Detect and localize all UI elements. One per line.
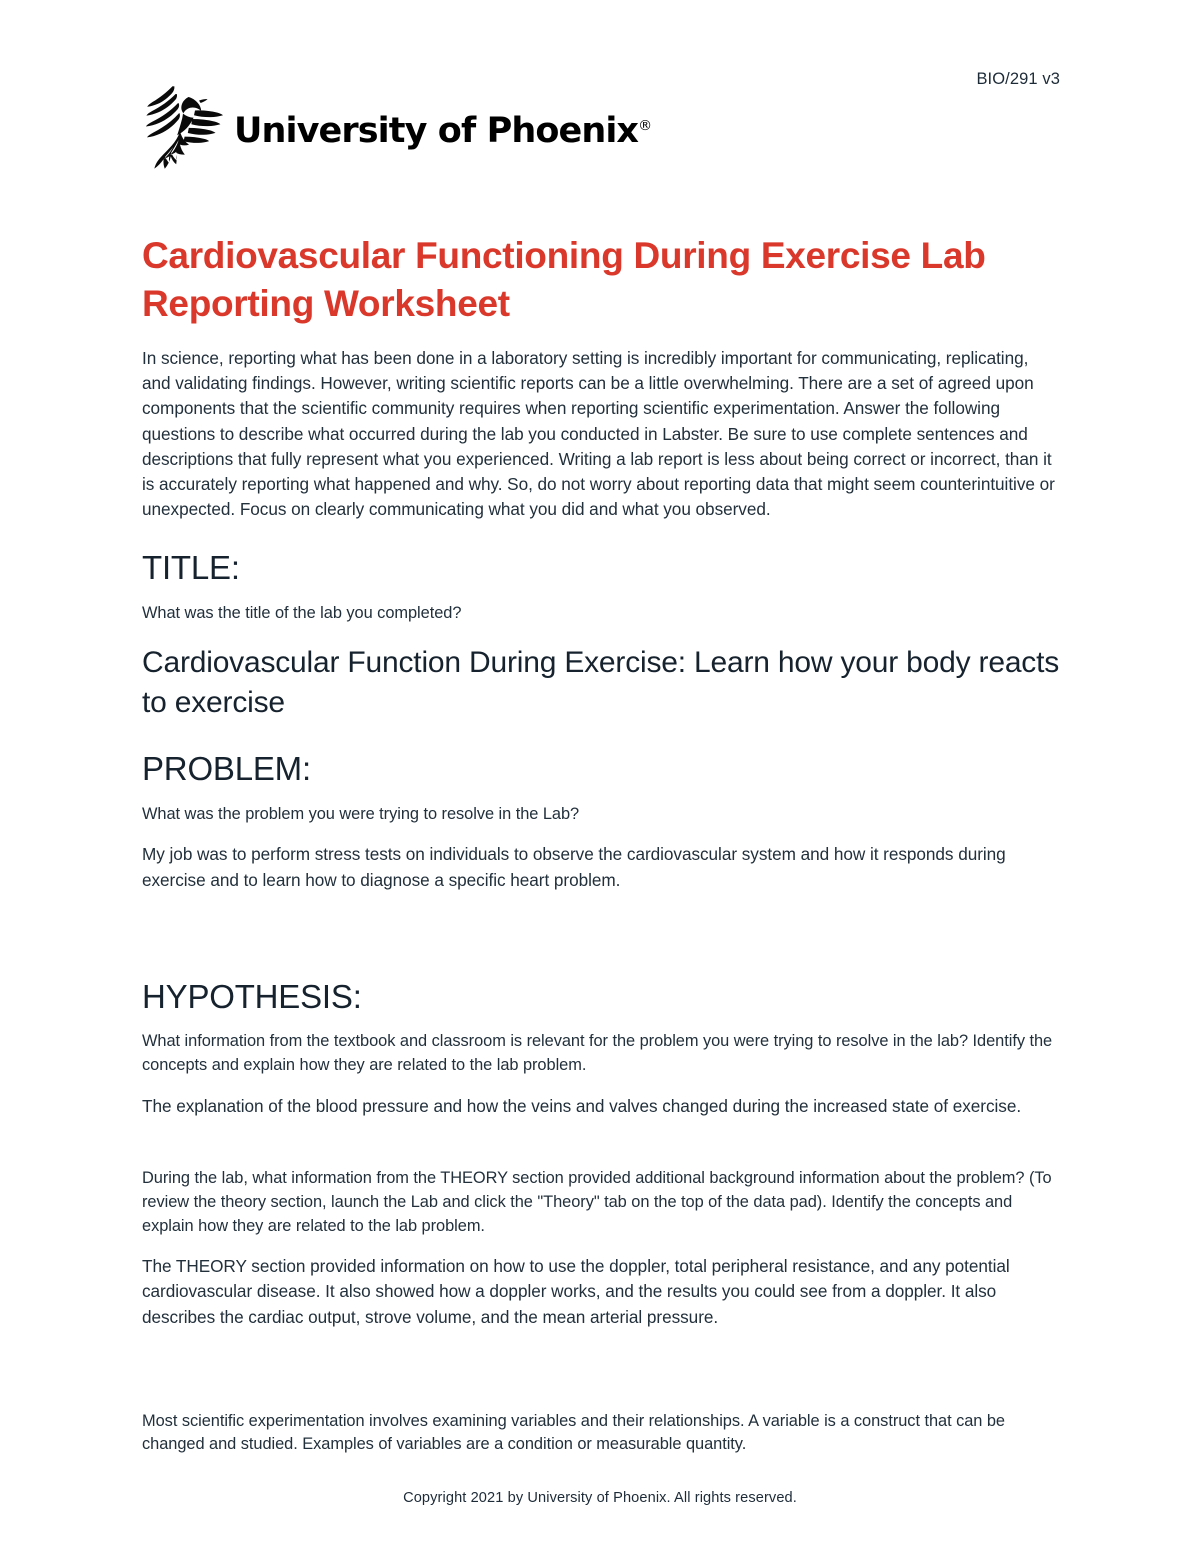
section-heading-title: TITLE: bbox=[142, 548, 1060, 588]
answer-hypothesis-1: The explanation of the blood pressure an… bbox=[142, 1094, 1060, 1119]
section-heading-problem: PROBLEM: bbox=[142, 749, 1060, 789]
document-body: Cardiovascular Functioning During Exerci… bbox=[142, 232, 1060, 1457]
answer-space-hypothesis-1 bbox=[142, 1119, 1060, 1153]
phoenix-bird-icon bbox=[142, 84, 224, 172]
page-title: Cardiovascular Functioning During Exerci… bbox=[142, 232, 1060, 328]
prompt-problem: What was the problem you were trying to … bbox=[142, 803, 1060, 827]
intro-paragraph: In science, reporting what has been done… bbox=[142, 346, 1060, 522]
section-heading-hypothesis: HYPOTHESIS: bbox=[142, 977, 1060, 1017]
footer-copyright: Copyright 2021 by University of Phoenix.… bbox=[0, 1490, 1200, 1506]
prompt-title: What was the title of the lab you comple… bbox=[142, 602, 1060, 626]
document-page: BIO/291 v3 bbox=[0, 0, 1200, 1553]
prompt-hypothesis-1: What information from the textbook and c… bbox=[142, 1030, 1060, 1078]
answer-hypothesis-2: The THEORY section provided information … bbox=[142, 1254, 1060, 1329]
prompt-hypothesis-2: During the lab, what information from th… bbox=[142, 1167, 1060, 1238]
university-wordmark: University of Phoenix® bbox=[234, 114, 652, 149]
prompt-hypothesis-3: Most scientific experimentation involves… bbox=[142, 1410, 1060, 1458]
wordmark-text: University of Phoenix bbox=[234, 111, 638, 151]
registered-trademark-icon: ® bbox=[638, 118, 652, 134]
answer-problem: My job was to perform stress tests on in… bbox=[142, 842, 1060, 892]
answer-title: Cardiovascular Function During Exercise:… bbox=[142, 643, 1060, 723]
answer-space-problem bbox=[142, 893, 1060, 951]
course-code-label: BIO/291 v3 bbox=[976, 70, 1060, 89]
university-of-phoenix-logo: University of Phoenix® bbox=[142, 84, 652, 172]
answer-space-hypothesis-2 bbox=[142, 1330, 1060, 1396]
